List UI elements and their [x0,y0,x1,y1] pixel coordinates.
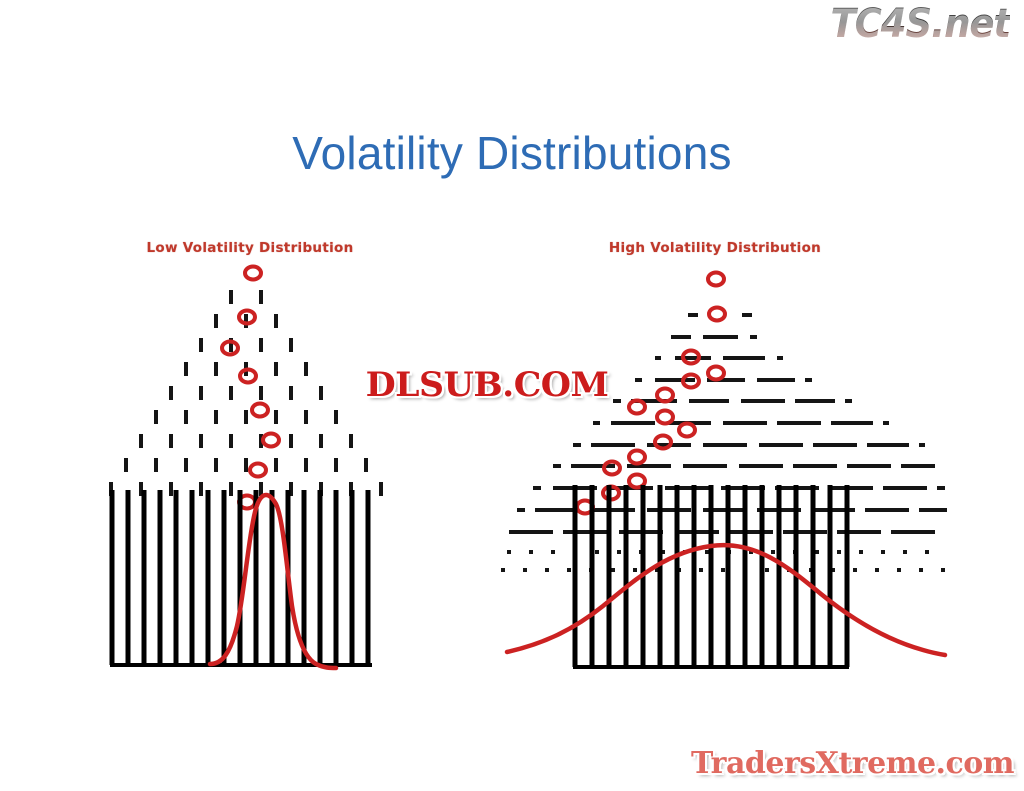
high-volatility-chart: High Volatility Distribution [495,240,955,680]
low-vol-pegboard [111,290,381,496]
low-volatility-figure [100,240,400,680]
slide-canvas: TC4S.net Volatility Distributions Low Vo… [0,0,1024,791]
low-volatility-chart: Low Volatility Distribution [100,240,400,680]
dlsub-watermark: DLSUB.COM [366,368,609,402]
page-title: Volatility Distributions [0,126,1024,180]
tradersxtreme-watermark: TradersXtreme.com [691,749,1014,779]
high-vol-pegboard [501,315,947,570]
high-vol-bars [575,485,847,667]
tc4s-logo: TC4S.net [830,4,1010,44]
low-vol-bars [112,490,368,665]
high-volatility-figure [495,240,955,680]
